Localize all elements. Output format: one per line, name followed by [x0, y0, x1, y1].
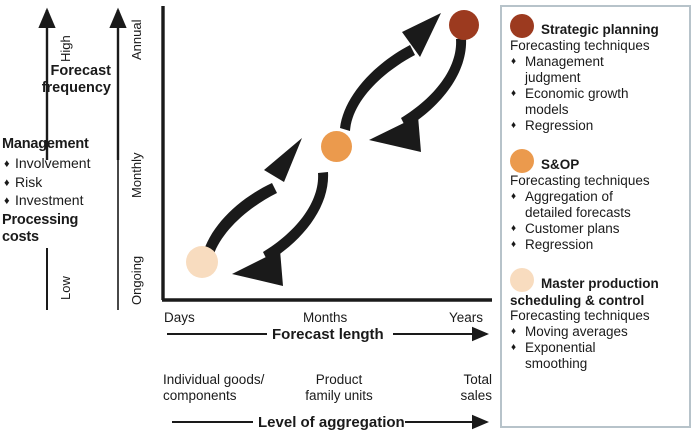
- diamond-bullet-icon: ♦: [511, 324, 516, 340]
- legend-subtitle: Forecasting techniques: [510, 308, 685, 324]
- legend-item-line1: Moving averages: [525, 324, 685, 340]
- legend-item: ♦ Exponential smoothing: [510, 340, 685, 372]
- management-heading: Management: [2, 136, 89, 152]
- legend-item: ♦ Customer plans: [510, 221, 685, 237]
- aggregation-tick-individual-goods: Individual goods/ components: [163, 372, 264, 404]
- aggregation-tick-line2: family units: [299, 388, 379, 404]
- aggregation-tick-line1: Individual goods/: [163, 372, 264, 388]
- legend-group-strategic-planning[interactable]: Strategic planning Forecasting technique…: [510, 13, 685, 134]
- legend-item-line1: Aggregation of: [525, 189, 685, 205]
- legend-item: ♦ Economic growth models: [510, 86, 685, 118]
- legend-subtitle: Forecasting techniques: [510, 38, 685, 54]
- diamond-bullet-icon: ♦: [4, 158, 15, 170]
- diamond-bullet-icon: ♦: [4, 195, 15, 207]
- management-item-label: Investment: [15, 192, 83, 208]
- diagram-root: High Low Annual Monthly Ongoing Forecast…: [0, 0, 699, 434]
- diamond-bullet-icon: ♦: [511, 237, 516, 253]
- management-item-label: Risk: [15, 174, 42, 190]
- legend-item: ♦ Moving averages: [510, 324, 685, 340]
- processing-costs-line2: costs: [2, 229, 39, 245]
- legend-item-line1: Economic growth: [525, 86, 685, 102]
- diamond-bullet-icon: ♦: [511, 86, 516, 102]
- diamond-bullet-icon: ♦: [4, 177, 15, 189]
- diamond-bullet-icon: ♦: [511, 118, 516, 134]
- legend-title-sop: S&OP: [510, 148, 685, 174]
- forecast-frequency-caption-line2: frequency: [0, 80, 111, 97]
- legend-item-line1: Exponential: [525, 340, 685, 356]
- aggregation-tick-line1: Total: [444, 372, 492, 388]
- legend-group-master-production-scheduling[interactable]: Master production scheduling & control F…: [510, 267, 685, 372]
- frequency-axis-monthly-label: Monthly: [129, 152, 144, 198]
- management-item-involvement: ♦Involvement: [4, 155, 90, 171]
- legend-item-line1: Regression: [525, 118, 685, 134]
- legend-item-line2: detailed forecasts: [525, 205, 685, 221]
- management-item-label: Involvement: [15, 155, 90, 171]
- legend-item-line1: Customer plans: [525, 221, 685, 237]
- legend-item: ♦ Regression: [510, 237, 685, 253]
- legend-swatch-strategic-planning: [510, 14, 534, 38]
- x-tick-years: Years: [449, 310, 483, 325]
- aggregation-tick-line2: components: [163, 388, 264, 404]
- legend-item-line1: Regression: [525, 237, 685, 253]
- management-item-investment: ♦Investment: [4, 192, 83, 208]
- diamond-bullet-icon: ♦: [511, 340, 516, 356]
- legend-panel: Strategic planning Forecasting technique…: [500, 5, 691, 428]
- legend-group-sop[interactable]: S&OP Forecasting techniques ♦ Aggregatio…: [510, 148, 685, 253]
- data-point-sop[interactable]: [321, 131, 352, 162]
- legend-swatch-master-production-scheduling: [510, 268, 534, 292]
- legend-item-line1: Management: [525, 54, 685, 70]
- legend-swatch-sop: [510, 149, 534, 173]
- legend-item-line2: smoothing: [525, 356, 685, 372]
- legend-title-strategic-planning: Strategic planning: [510, 13, 685, 39]
- aggregation-tick-total-sales: Total sales: [444, 372, 492, 404]
- aggregation-tick-line2: sales: [444, 388, 492, 404]
- aggregation-tick-line1: Product: [299, 372, 379, 388]
- data-point-strategic-planning[interactable]: [449, 10, 479, 40]
- legend-subtitle: Forecasting techniques: [510, 173, 685, 189]
- x-tick-months: Months: [303, 310, 347, 325]
- aggregation-axis-title: Level of aggregation: [258, 414, 405, 431]
- frequency-axis-ongoing-label: Ongoing: [129, 256, 144, 305]
- legend-title-master-production-scheduling: Master production scheduling & control: [510, 267, 685, 309]
- legend-title-row: Master production scheduling & control: [510, 267, 685, 309]
- x-axis-title: Forecast length: [272, 326, 384, 343]
- processing-costs-line1: Processing: [2, 212, 78, 228]
- frequency-axis-annual-label: Annual: [129, 20, 144, 60]
- legend-item: ♦ Regression: [510, 118, 685, 134]
- data-point-master-production-scheduling[interactable]: [186, 246, 218, 278]
- legend-title-row: S&OP: [510, 148, 685, 174]
- legend-title-line2: scheduling & control: [510, 293, 685, 310]
- forecast-frequency-caption-line1: Forecast: [0, 63, 111, 80]
- legend-item-line2: judgment: [525, 70, 685, 86]
- x-tick-days: Days: [164, 310, 195, 325]
- diamond-bullet-icon: ♦: [511, 54, 516, 70]
- diamond-bullet-icon: ♦: [511, 221, 516, 237]
- legend-title-line1: Master production: [541, 276, 659, 291]
- management-item-risk: ♦Risk: [4, 174, 42, 190]
- diamond-bullet-icon: ♦: [511, 189, 516, 205]
- aggregation-tick-product-family: Product family units: [299, 372, 379, 404]
- legend-item: ♦ Management judgment: [510, 54, 685, 86]
- legend-title-row: Strategic planning: [510, 13, 685, 39]
- cost-axis-low-label: Low: [58, 276, 73, 300]
- legend-item-line2: models: [525, 102, 685, 118]
- legend-item: ♦ Aggregation of detailed forecasts: [510, 189, 685, 221]
- cost-axis-high-label: High: [58, 35, 73, 62]
- forecast-frequency-caption: Forecast frequency: [0, 63, 111, 97]
